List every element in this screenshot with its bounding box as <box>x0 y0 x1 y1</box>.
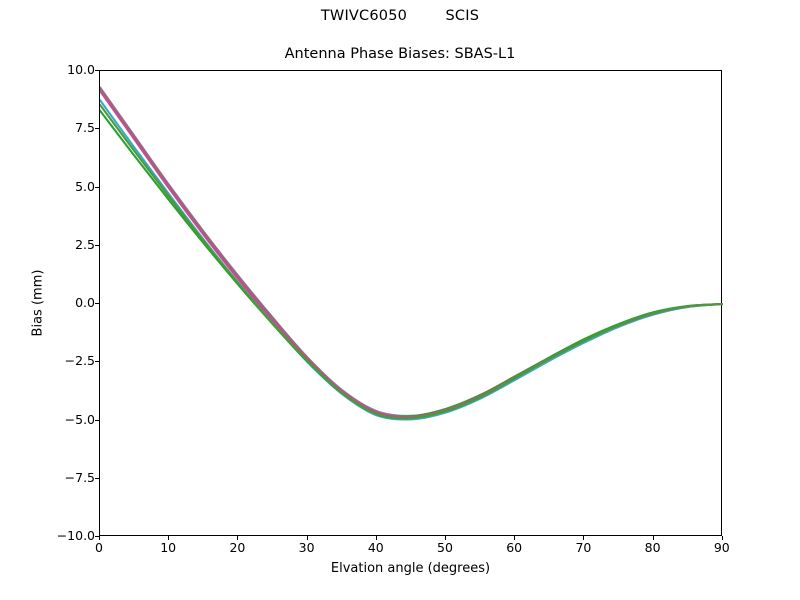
series-line <box>100 91 723 419</box>
x-tick-label: 50 <box>415 541 475 555</box>
x-tick-label: 30 <box>277 541 337 555</box>
chart-title: Antenna Phase Biases: SBAS-L1 <box>0 46 800 62</box>
series-line <box>100 105 723 419</box>
x-tick-label: 0 <box>69 541 129 555</box>
x-tick-label: 20 <box>207 541 267 555</box>
series-line <box>100 100 723 419</box>
y-tick-label: 10.0 <box>35 64 95 77</box>
figure-canvas: TWIVC6050 SCIS Antenna Phase Biases: SBA… <box>0 0 800 600</box>
series-lines <box>100 71 723 537</box>
x-tick-label: 70 <box>553 541 613 555</box>
series-line <box>100 87 723 416</box>
plot-area <box>99 70 722 536</box>
y-tick-label: 7.5 <box>35 122 95 135</box>
x-tick-label: 60 <box>484 541 544 555</box>
y-tick-label: 5.0 <box>35 181 95 194</box>
series-line <box>100 88 723 417</box>
y-tick-label: −2.5 <box>35 355 95 368</box>
x-tick-label: 80 <box>623 541 683 555</box>
figure-suptitle: TWIVC6050 SCIS <box>0 8 800 24</box>
x-tick-label: 90 <box>692 541 752 555</box>
series-line <box>100 111 723 417</box>
y-tick-label: 2.5 <box>35 239 95 252</box>
x-tick-label: 40 <box>346 541 406 555</box>
x-tick-label: 10 <box>138 541 198 555</box>
y-tick-label: −5.0 <box>35 414 95 427</box>
x-axis-label: Elvation angle (degrees) <box>99 561 722 576</box>
y-tick-label: −7.5 <box>35 472 95 485</box>
